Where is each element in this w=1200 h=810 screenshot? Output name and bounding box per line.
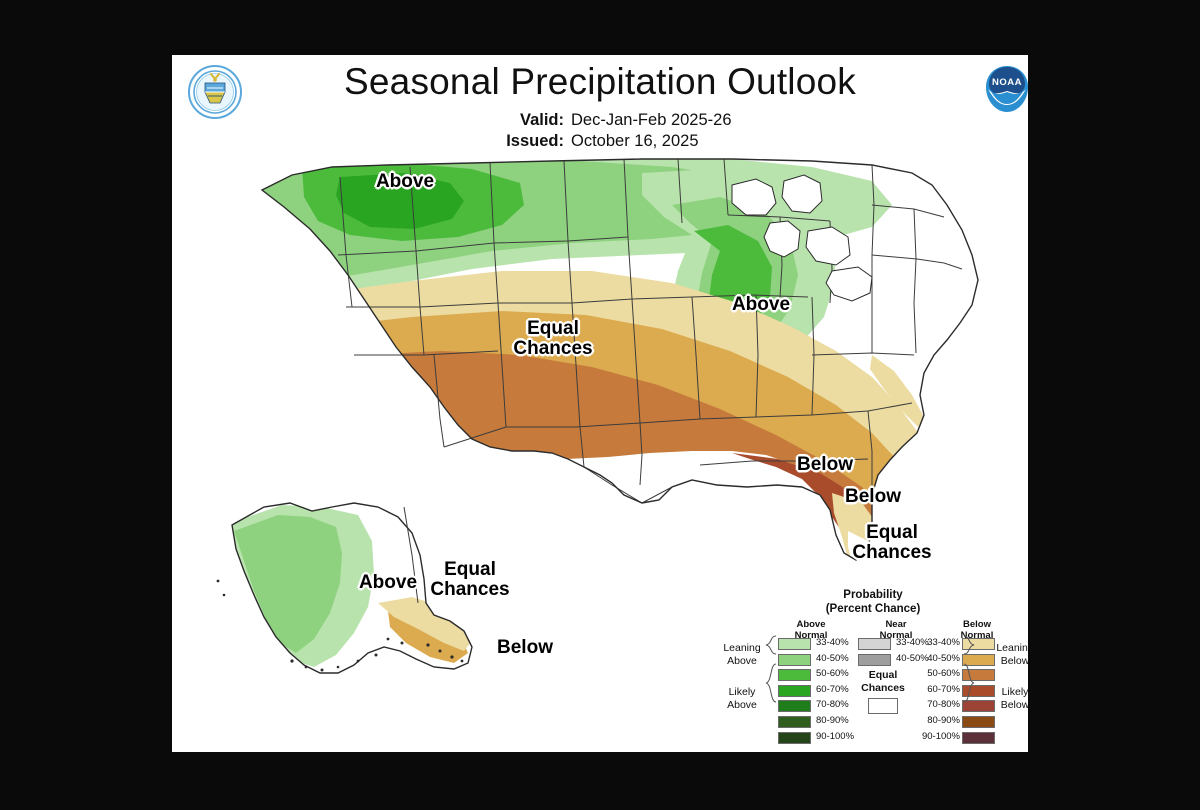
below-normal-swatch-40-50 bbox=[962, 654, 995, 666]
above-normal-pct-40-50: 40-50% bbox=[816, 653, 849, 664]
colhead-line: Above bbox=[776, 619, 846, 630]
below-normal-swatch-60-70 bbox=[962, 685, 995, 697]
legend-title-line2: (Percent Chance) bbox=[778, 602, 968, 616]
screenshot-root: Seasonal Precipitation Outlook Valid:Dec… bbox=[0, 0, 1200, 810]
above-normal-pct-50-60: 50-60% bbox=[816, 668, 849, 679]
valid-label: Valid: bbox=[502, 111, 564, 130]
below-normal-swatch-80-90 bbox=[962, 716, 995, 728]
above-normal-pct-70-80: 70-80% bbox=[816, 699, 849, 710]
valid-value: Dec-Jan-Feb 2025-26 bbox=[571, 111, 732, 129]
colhead-line: Below bbox=[942, 619, 1012, 630]
above-normal-swatch-40-50 bbox=[778, 654, 811, 666]
alaska-probability-fills bbox=[222, 495, 492, 695]
near-normal-swatch-40-50 bbox=[858, 654, 891, 666]
above-normal-pct-80-90: 80-90% bbox=[816, 715, 849, 726]
map-panel: Seasonal Precipitation Outlook Valid:Dec… bbox=[172, 55, 1028, 752]
below-normal-swatch-50-60 bbox=[962, 669, 995, 681]
above-normal-swatch-50-60 bbox=[778, 669, 811, 681]
above-normal-swatch-80-90 bbox=[778, 716, 811, 728]
above-normal-pct-90-100: 90-100% bbox=[816, 731, 854, 742]
bracket-line: Above bbox=[714, 655, 770, 668]
national-weather-service-seal-icon bbox=[186, 63, 244, 121]
below-normal-pct-40-50: 40-50% bbox=[914, 653, 960, 664]
above-normal-pct-60-70: 60-70% bbox=[816, 684, 849, 695]
above-normal-pct-33-40: 33-40% bbox=[816, 637, 849, 648]
legend-bracket-likely-above: Likely Above bbox=[714, 686, 770, 712]
bracket-line: Above bbox=[714, 699, 770, 712]
issued-date: Issued:October 16, 2025 bbox=[502, 132, 699, 151]
bracket-line: Likely bbox=[714, 686, 770, 699]
legend-equal-chances-label: Equal Chances bbox=[852, 669, 914, 695]
legend-bracket-leaning-above: Leaning Above bbox=[714, 642, 770, 668]
above-normal-swatch-90-100 bbox=[778, 732, 811, 744]
bracket-line: Leaning bbox=[714, 642, 770, 655]
noaa-seagull-logo-icon: NOAA bbox=[978, 60, 1028, 118]
issued-value: October 16, 2025 bbox=[571, 132, 699, 150]
legend-equal-chances-swatch bbox=[868, 698, 898, 714]
below-normal-pct-90-100: 90-100% bbox=[914, 731, 960, 742]
below-normal-swatch-70-80 bbox=[962, 700, 995, 712]
ec-line: Equal bbox=[852, 669, 914, 682]
colhead-line: Near bbox=[861, 619, 931, 630]
below-normal-swatch-33-40 bbox=[962, 638, 995, 650]
legend-title-line1: Probability bbox=[778, 588, 968, 602]
below-normal-pct-70-80: 70-80% bbox=[914, 699, 960, 710]
above-normal-swatch-33-40 bbox=[778, 638, 811, 650]
ec-line: Chances bbox=[852, 682, 914, 695]
above-normal-swatch-70-80 bbox=[778, 700, 811, 712]
issued-label: Issued: bbox=[502, 132, 564, 151]
probability-legend: Probability (Percent Chance) Above Norma… bbox=[720, 588, 1020, 750]
below-normal-pct-33-40: 33-40% bbox=[914, 637, 960, 648]
svg-text:NOAA: NOAA bbox=[992, 77, 1022, 88]
legend-title: Probability (Percent Chance) bbox=[778, 588, 968, 616]
page-title: Seasonal Precipitation Outlook bbox=[172, 61, 1028, 103]
valid-period: Valid:Dec-Jan-Feb 2025-26 bbox=[502, 111, 732, 130]
below-normal-swatch-90-100 bbox=[962, 732, 995, 744]
near-normal-swatch-33-40 bbox=[858, 638, 891, 650]
below-normal-pct-80-90: 80-90% bbox=[914, 715, 960, 726]
above-normal-swatch-60-70 bbox=[778, 685, 811, 697]
below-normal-pct-50-60: 50-60% bbox=[914, 668, 960, 679]
below-normal-pct-60-70: 60-70% bbox=[914, 684, 960, 695]
